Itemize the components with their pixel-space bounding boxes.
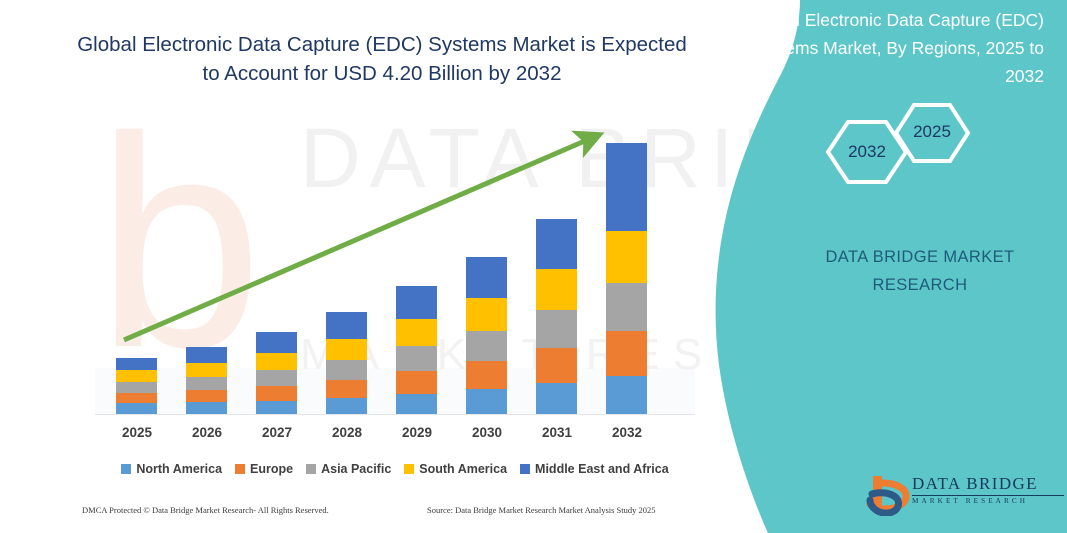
bar-segment-2028-middle-east-and-africa bbox=[326, 312, 367, 339]
bar-segment-2032-south-america bbox=[606, 231, 647, 283]
logo-text: DATA BRIDGE MARKET RESEARCH bbox=[912, 474, 1064, 505]
bar-segment-2027-asia-pacific bbox=[256, 370, 297, 386]
bar-segment-2029-asia-pacific bbox=[396, 346, 437, 371]
x-label-2027: 2027 bbox=[242, 425, 312, 440]
bar-2029 bbox=[396, 286, 437, 414]
bar-segment-2026-europe bbox=[186, 390, 227, 402]
infographic-canvas: b DATA BRIDGE MARKET RESEARCH Global Ele… bbox=[0, 0, 1067, 533]
bar-segment-2032-north-america bbox=[606, 376, 647, 414]
bar-segment-2030-north-america bbox=[466, 389, 507, 414]
bar-segment-2029-north-america bbox=[396, 394, 437, 414]
legend-item-europe[interactable]: Europe bbox=[235, 462, 293, 476]
bar-segment-2032-asia-pacific bbox=[606, 283, 647, 331]
legend-item-north-america[interactable]: North America bbox=[121, 462, 222, 476]
bar-segment-2030-middle-east-and-africa bbox=[466, 257, 507, 298]
x-label-2025: 2025 bbox=[102, 425, 172, 440]
legend-item-south-america[interactable]: South America bbox=[404, 462, 507, 476]
bar-segment-2029-middle-east-and-africa bbox=[396, 286, 437, 319]
legend-item-middle-east-and-africa[interactable]: Middle East and Africa bbox=[520, 462, 669, 476]
bar-segment-2028-north-america bbox=[326, 398, 367, 414]
legend-swatch-europe bbox=[235, 464, 245, 474]
panel-brand-line2: RESEARCH bbox=[873, 276, 968, 294]
x-label-2028: 2028 bbox=[312, 425, 382, 440]
chart-title-line2: to Account for USD 4.20 Billion by 2032 bbox=[203, 62, 562, 85]
bar-segment-2028-asia-pacific bbox=[326, 360, 367, 380]
bar-segment-2025-asia-pacific bbox=[116, 382, 157, 393]
bar-segment-2026-north-america bbox=[186, 402, 227, 414]
bar-segment-2031-asia-pacific bbox=[536, 310, 577, 348]
chart-title: Global Electronic Data Capture (EDC) Sys… bbox=[62, 30, 702, 88]
bar-segment-2025-south-america bbox=[116, 370, 157, 382]
bar-segment-2031-europe bbox=[536, 348, 577, 383]
bar-segment-2025-middle-east-and-africa bbox=[116, 358, 157, 370]
bar-segment-2027-south-america bbox=[256, 353, 297, 370]
bar-2031 bbox=[536, 219, 577, 414]
bar-2030 bbox=[466, 257, 507, 414]
legend-swatch-asia-pacific bbox=[306, 464, 316, 474]
bar-segment-2028-europe bbox=[326, 380, 367, 398]
logo-divider bbox=[912, 495, 1064, 496]
legend-label-europe: Europe bbox=[250, 462, 293, 476]
legend-item-asia-pacific[interactable]: Asia Pacific bbox=[306, 462, 391, 476]
data-bridge-b-mark-icon bbox=[866, 472, 912, 516]
legend-label-south-america: South America bbox=[419, 462, 507, 476]
bar-segment-2027-north-america bbox=[256, 401, 297, 414]
chart-title-line1: Global Electronic Data Capture (EDC) Sys… bbox=[77, 33, 687, 56]
legend-swatch-middle-east-and-africa bbox=[520, 464, 530, 474]
hexagon-2032-label: 2032 bbox=[762, 142, 972, 162]
year-hexagons: 2032 2025 bbox=[790, 100, 1000, 210]
bar-2026 bbox=[186, 347, 227, 414]
x-label-2031: 2031 bbox=[522, 425, 592, 440]
bar-segment-2026-south-america bbox=[186, 363, 227, 377]
bar-segment-2025-north-america bbox=[116, 403, 157, 414]
bar-segment-2031-south-america bbox=[536, 269, 577, 310]
bar-segment-2028-south-america bbox=[326, 339, 367, 360]
hexagon-2025-label: 2025 bbox=[827, 122, 1037, 142]
bar-2032 bbox=[606, 143, 647, 414]
bar-segment-2030-south-america bbox=[466, 298, 507, 331]
panel-title-line2: Systems Market, By Regions, 2025 to bbox=[751, 38, 1044, 58]
x-axis-labels: 20252026202720282029203020312032 bbox=[95, 425, 695, 447]
x-axis-line bbox=[95, 414, 695, 415]
legend-swatch-north-america bbox=[121, 464, 131, 474]
bar-segment-2027-europe bbox=[256, 386, 297, 401]
panel-title: Global Electronic Data Capture (EDC) Sys… bbox=[722, 6, 1044, 90]
x-label-2026: 2026 bbox=[172, 425, 242, 440]
panel-title-line3: 2032 bbox=[1005, 66, 1044, 86]
bar-segment-2029-south-america bbox=[396, 319, 437, 346]
bar-segment-2026-asia-pacific bbox=[186, 377, 227, 390]
x-label-2032: 2032 bbox=[592, 425, 662, 440]
bar-segment-2026-middle-east-and-africa bbox=[186, 347, 227, 363]
bar-2025 bbox=[116, 358, 157, 414]
logo-sub-text: MARKET RESEARCH bbox=[912, 497, 1064, 505]
legend-label-middle-east-and-africa: Middle East and Africa bbox=[535, 462, 669, 476]
panel-title-line1: Global Electronic Data Capture (EDC) bbox=[749, 10, 1044, 30]
bar-chart-plot bbox=[95, 120, 695, 415]
x-label-2029: 2029 bbox=[382, 425, 452, 440]
bar-segment-2032-europe bbox=[606, 331, 647, 376]
footer: DMCA Protected © Data Bridge Market Rese… bbox=[0, 505, 710, 525]
bar-2028 bbox=[326, 312, 367, 414]
legend-swatch-south-america bbox=[404, 464, 414, 474]
logo-main-text: DATA BRIDGE bbox=[912, 474, 1064, 494]
bar-segment-2030-asia-pacific bbox=[466, 331, 507, 361]
panel-brand-text: DATA BRIDGE MARKET RESEARCH bbox=[800, 243, 1040, 299]
footer-copyright: DMCA Protected © Data Bridge Market Rese… bbox=[82, 505, 329, 515]
data-bridge-logo: DATA BRIDGE MARKET RESEARCH bbox=[866, 470, 1046, 518]
bar-segment-2030-europe bbox=[466, 361, 507, 389]
bar-segment-2029-europe bbox=[396, 371, 437, 394]
footer-source: Source: Data Bridge Market Research Mark… bbox=[427, 505, 656, 515]
legend-label-north-america: North America bbox=[136, 462, 222, 476]
x-label-2030: 2030 bbox=[452, 425, 522, 440]
bar-segment-2031-middle-east-and-africa bbox=[536, 219, 577, 269]
bar-segment-2025-europe bbox=[116, 393, 157, 403]
bar-segment-2031-north-america bbox=[536, 383, 577, 414]
chart-legend: North AmericaEuropeAsia PacificSouth Ame… bbox=[95, 459, 695, 479]
bar-segment-2027-middle-east-and-africa bbox=[256, 332, 297, 353]
panel-brand-line1: DATA BRIDGE MARKET bbox=[825, 248, 1014, 266]
bar-segment-2032-middle-east-and-africa bbox=[606, 143, 647, 231]
bar-2027 bbox=[256, 332, 297, 414]
legend-label-asia-pacific: Asia Pacific bbox=[321, 462, 391, 476]
